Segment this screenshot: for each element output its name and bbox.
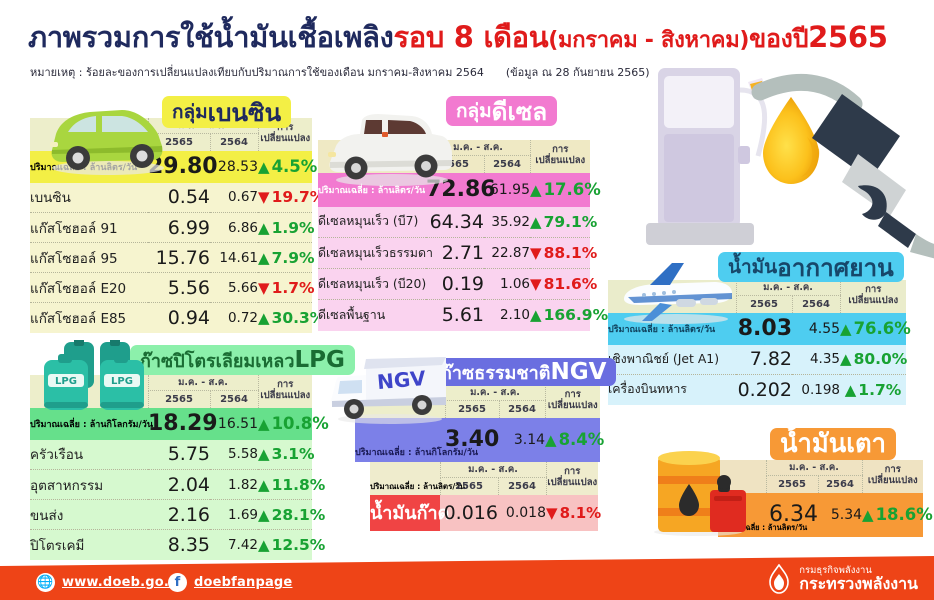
row-value-2565: 5.61: [426, 300, 484, 331]
svg-text:LPG: LPG: [111, 376, 133, 387]
arrow-down-icon: ▼: [258, 279, 270, 297]
table-row: แก๊สโซฮอล์ E20 5.56 5.66 ▼1.7%: [30, 273, 312, 303]
year-current: 2565: [736, 296, 792, 313]
summary-change: ▲10.8%: [258, 408, 312, 440]
title-part2: รอบ 8 เดือน: [393, 20, 548, 54]
panel-kerosene: ม.ค. - ส.ค. การเปลี่ยนแปลง ปริมาณเฉลี่ย …: [370, 462, 598, 531]
fuel-nozzle-icon: [750, 70, 934, 260]
ministry-text: กรมธุรกิจพลังงาน กระทรวงพลังงาน: [799, 566, 918, 593]
table-row: ครัวเรือน 5.75 5.58 ▲3.1%: [30, 440, 312, 470]
arrow-up-icon: ▲: [258, 506, 270, 524]
summary-change: ▲18.6%: [862, 493, 923, 537]
panel-fueloil-title-main: น้ำมันเตา: [780, 424, 886, 464]
panel-gasoline-title-pre: กลุ่ม: [172, 97, 208, 127]
year-current: 2565: [766, 476, 818, 493]
row-value-2565: 8.35: [148, 530, 210, 560]
facebook-link[interactable]: f doebfanpage: [168, 573, 292, 592]
arrow-up-icon: ▲: [840, 350, 852, 368]
summary-change: ▲8.4%: [545, 418, 600, 462]
row-label: ปิโตรเคมี: [30, 530, 148, 560]
period-header: ม.ค. - ส.ค.: [440, 462, 546, 478]
arrow-down-icon: ▼: [258, 188, 270, 206]
row-change: ▼19.7%: [258, 183, 312, 213]
panel-aviation-title-main: อากาศยาน: [777, 248, 894, 287]
row-value-2564: 14.61: [210, 243, 258, 273]
row-value-2564: 2.10: [484, 300, 530, 331]
facebook-label: doebfanpage: [194, 575, 292, 590]
airplane-icon: [614, 255, 734, 327]
year-current: 2565: [148, 391, 210, 408]
row-value-2565: 7.82: [736, 345, 792, 375]
panel-diesel-title-main: ดีเซล: [492, 92, 548, 131]
arrow-up-icon: ▲: [862, 506, 874, 524]
table-header-row: ม.ค. - ส.ค. การเปลี่ยนแปลง: [370, 462, 598, 478]
table-row: อุตสาหกรรม 2.04 1.82 ▲11.8%: [30, 470, 312, 500]
table-row: ปิโตรเคมี 8.35 7.42 ▲12.5%: [30, 530, 312, 560]
kerosene-table: ม.ค. - ส.ค. การเปลี่ยนแปลง ปริมาณเฉลี่ย …: [370, 462, 598, 531]
row-change: ▼1.7%: [258, 273, 312, 303]
facebook-icon: f: [168, 573, 187, 592]
arrow-up-icon: ▲: [258, 445, 270, 463]
panel-ngv-title-main: NGV: [550, 359, 606, 385]
row-label: เบนซิน: [30, 183, 148, 213]
arrow-down-icon: ▼: [546, 504, 558, 522]
ngv-truck-icon: NGV: [330, 355, 450, 427]
panel-ngv-title: ก๊าซธรรมชาติNGV: [431, 358, 616, 386]
svg-text:LPG: LPG: [55, 376, 77, 387]
row-change: ▲11.8%: [258, 470, 312, 500]
title-part3: (มกราคม - สิงหาคม): [548, 28, 749, 53]
summary-change: ▲76.6%: [840, 313, 906, 345]
note-text: หมายเหตุ : ร้อยละของการเปลี่ยนแปลงเทียบก…: [30, 66, 484, 79]
row-change: ▲166.9%: [530, 300, 590, 331]
website-label: www.doeb.go.th: [62, 575, 185, 590]
arrow-up-icon: ▲: [258, 219, 270, 237]
title-part1: ภาพรวมการใช้น้ำมันเชื้อเพลิง: [28, 20, 393, 54]
row-value-2565: 2.71: [426, 238, 484, 269]
row-value-2565: 15.76: [148, 243, 210, 273]
row-value-2565: 0.54: [148, 183, 210, 213]
summary-value-2564: 4.55: [792, 313, 840, 345]
arrow-up-icon: ▲: [258, 415, 270, 433]
row-label: ขนส่ง: [30, 500, 148, 530]
row-value-2564: 0.198: [792, 375, 840, 405]
lpg-cylinders-icon: LPG LPG: [38, 340, 154, 416]
arrow-up-icon: ▲: [258, 309, 270, 327]
title-part5: 2565: [808, 20, 888, 54]
table-row: ดีเซลพื้นฐาน 5.61 2.10 ▲166.9%: [318, 300, 590, 331]
row-label: อุตสาหกรรม: [30, 470, 148, 500]
row-label: ดีเซลหมุนเร็วธรรมดา: [318, 238, 426, 269]
arrow-up-icon: ▲: [258, 536, 270, 554]
row-value-2564: 5.66: [210, 273, 258, 303]
table-row: ขนส่ง 2.16 1.69 ▲28.1%: [30, 500, 312, 530]
table-row: เครื่องบินทหาร 0.202 0.198 ▲1.7%: [608, 375, 906, 405]
row-change: ▲80.0%: [840, 345, 906, 375]
arrow-up-icon: ▲: [840, 320, 852, 338]
panel-lpg-title-pre: ก๊าซปิโตรเลียมเหลว: [140, 346, 294, 375]
row-value-2565: 2.04: [148, 470, 210, 500]
website-link[interactable]: 🌐 www.doeb.go.th: [36, 573, 185, 592]
row-change: ▲3.1%: [258, 440, 312, 470]
table-row: เบนซิน 0.54 0.67 ▼19.7%: [30, 183, 312, 213]
row-label: ดีเซลพื้นฐาน: [318, 300, 426, 331]
summary-value-2564: 3.14: [499, 418, 545, 462]
row-change: ▲7.9%: [258, 243, 312, 273]
panel-gasoline-title: กลุ่มเบนซิน: [162, 96, 291, 128]
page-title: ภาพรวมการใช้น้ำมันเชื้อเพลิงรอบ 8 เดือน(…: [28, 20, 888, 58]
oil-drum-icon: [650, 450, 756, 536]
panel-diesel-title-pre: กลุ่ม: [456, 96, 492, 126]
row-value-2564: 0.72: [210, 303, 258, 333]
row-value-2564: 1.69: [210, 500, 258, 530]
arrow-up-icon: ▲: [530, 213, 542, 231]
summary-value-2565: 0.016: [440, 495, 498, 531]
summary-value-2565: 8.03: [736, 313, 792, 345]
row-change: ▼81.6%: [530, 269, 590, 300]
ministry-name: กระทรวงพลังงาน: [799, 576, 918, 593]
table-row: แก๊สโซฮอล์ E85 0.94 0.72 ▲30.3%: [30, 303, 312, 333]
arrow-up-icon: ▲: [845, 381, 857, 399]
row-value-2565: 0.19: [426, 269, 484, 300]
panel-ngv-title-pre: ก๊าซธรรมชาติ: [441, 358, 550, 387]
title-part4: ของปี: [749, 24, 808, 53]
footer-bar: 🌐 www.doeb.go.th f doebfanpage กรมธุรกิจ…: [0, 556, 934, 600]
row-value-2565: 6.99: [148, 213, 210, 243]
year-previous: 2564: [210, 134, 258, 151]
summary-change: ▲17.6%: [530, 173, 590, 207]
arrow-up-icon: ▲: [258, 476, 270, 494]
row-value-2564: 4.35: [792, 345, 840, 375]
year-previous: 2564: [792, 296, 840, 313]
panel-gasoline-title-main: เบนซิน: [208, 93, 281, 132]
arrow-up-icon: ▲: [530, 306, 542, 324]
year-current: 2565: [445, 401, 499, 418]
table-row: ดีเซลหมุนเร็ว (บี7) 64.34 35.92 ▲79.1%: [318, 207, 590, 238]
year-previous: 2564: [818, 476, 862, 493]
white-pickup-truck-icon: [326, 108, 456, 188]
arrow-up-icon: ▲: [258, 158, 270, 176]
year-previous: 2564: [210, 391, 258, 408]
row-value-2565: 5.75: [148, 440, 210, 470]
panel-aviation-title: น้ำมันอากาศยาน: [718, 252, 904, 282]
row-label: แก๊สโซฮอล์ 95: [30, 243, 148, 273]
row-change: ▲12.5%: [258, 530, 312, 560]
svg-text:NGV: NGV: [376, 366, 427, 394]
table-row: ดีเซลหมุนเร็ว (บี20) 0.19 1.06 ▼81.6%: [318, 269, 590, 300]
row-value-2565: 5.56: [148, 273, 210, 303]
summary-change: ▲4.5%: [258, 151, 312, 183]
table-row: แก๊สโซฮอล์ 91 6.99 6.86 ▲1.9%: [30, 213, 312, 243]
row-change: ▼88.1%: [530, 238, 590, 269]
row-value-2565: 64.34: [426, 207, 484, 238]
summary-row: น้ำมันก๊าด 0.016 0.018 ▼8.1%: [370, 495, 598, 531]
change-header: การเปลี่ยนแปลง: [258, 375, 312, 408]
row-change: ▲1.9%: [258, 213, 312, 243]
summary-value-2564: 0.018: [498, 495, 546, 531]
row-label: ดีเซลหมุนเร็ว (บี7): [318, 207, 426, 238]
row-label: ดีเซลหมุนเร็ว (บี20): [318, 269, 426, 300]
row-value-2564: 1.82: [210, 470, 258, 500]
row-value-2564: 7.42: [210, 530, 258, 560]
row-value-2564: 22.87: [484, 238, 530, 269]
year-previous: 2564: [484, 156, 530, 173]
change-header: การเปลี่ยนแปลง: [545, 385, 600, 418]
row-value-2564: 35.92: [484, 207, 530, 238]
change-header: การเปลี่ยนแปลง: [862, 460, 923, 493]
change-header: การเปลี่ยนแปลง: [530, 140, 590, 173]
row-value-2565: 0.202: [736, 375, 792, 405]
row-value-2564: 0.67: [210, 183, 258, 213]
row-value-2565: 0.94: [148, 303, 210, 333]
green-car-icon: [38, 98, 168, 176]
panel-aviation-title-pre: น้ำมัน: [728, 252, 777, 282]
row-label: แก๊สโซฮอล์ E85: [30, 303, 148, 333]
period-header: ม.ค. - ส.ค.: [445, 385, 545, 401]
row-label: แก๊สโซฮอล์ E20: [30, 273, 148, 303]
row-value-2564: 5.58: [210, 440, 258, 470]
row-value-2564: 1.06: [484, 269, 530, 300]
year-previous: 2564: [499, 401, 545, 418]
note-line: หมายเหตุ : ร้อยละของการเปลี่ยนแปลงเทียบก…: [30, 63, 650, 81]
table-row: ดีเซลหมุนเร็วธรรมดา 2.71 22.87 ▼88.1%: [318, 238, 590, 269]
summary-change: ▼8.1%: [546, 495, 598, 531]
row-label: เชิงพาณิชย์ (Jet A1): [608, 345, 736, 375]
table-row: เชิงพาณิชย์ (Jet A1) 7.82 4.35 ▲80.0%: [608, 345, 906, 375]
period-header: ม.ค. - ส.ค.: [148, 375, 258, 391]
row-change: ▲30.3%: [258, 303, 312, 333]
row-change: ▲79.1%: [530, 207, 590, 238]
row-change: ▲1.7%: [840, 375, 906, 405]
panel-diesel-title: กลุ่มดีเซล: [446, 96, 557, 126]
year-previous: 2564: [498, 478, 546, 495]
row-value-2564: 6.86: [210, 213, 258, 243]
summary-value-2564: 5.34: [818, 493, 862, 537]
arrow-up-icon: ▲: [545, 431, 557, 449]
panel-fueloil-title: น้ำมันเตา: [770, 428, 896, 460]
arrow-up-icon: ▲: [258, 249, 270, 267]
arrow-up-icon: ▲: [530, 181, 542, 199]
arrow-down-icon: ▼: [530, 275, 542, 293]
globe-icon: 🌐: [36, 573, 55, 592]
ministry-logo: กรมธุรกิจพลังงาน กระทรวงพลังงาน: [766, 564, 918, 594]
infographic-page: ภาพรวมการใช้น้ำมันเชื้อเพลิงรอบ 8 เดือน(…: [0, 0, 934, 600]
row-label: ครัวเรือน: [30, 440, 148, 470]
row-value-2565: 2.16: [148, 500, 210, 530]
panel-lpg-title: ก๊าซปิโตรเลียมเหลวLPG: [130, 345, 355, 375]
row-change: ▲28.1%: [258, 500, 312, 530]
change-header: การเปลี่ยนแปลง: [546, 462, 598, 495]
row-label: แก๊สโซฮอล์ 91: [30, 213, 148, 243]
flame-icon: [766, 564, 792, 594]
row-label: เครื่องบินทหาร: [608, 375, 736, 405]
note-source: (ข้อมูล ณ 28 กันยายน 2565): [506, 66, 650, 79]
arrow-down-icon: ▼: [530, 244, 542, 262]
table-row: แก๊สโซฮอล์ 95 15.76 14.61 ▲7.9%: [30, 243, 312, 273]
unit-label: ปริมาณเฉลี่ย : ล้านลิตร/วัน: [370, 478, 440, 495]
summary-value-2565: 18.29: [148, 408, 210, 440]
kerosene-name: น้ำมันก๊าด: [370, 495, 440, 531]
